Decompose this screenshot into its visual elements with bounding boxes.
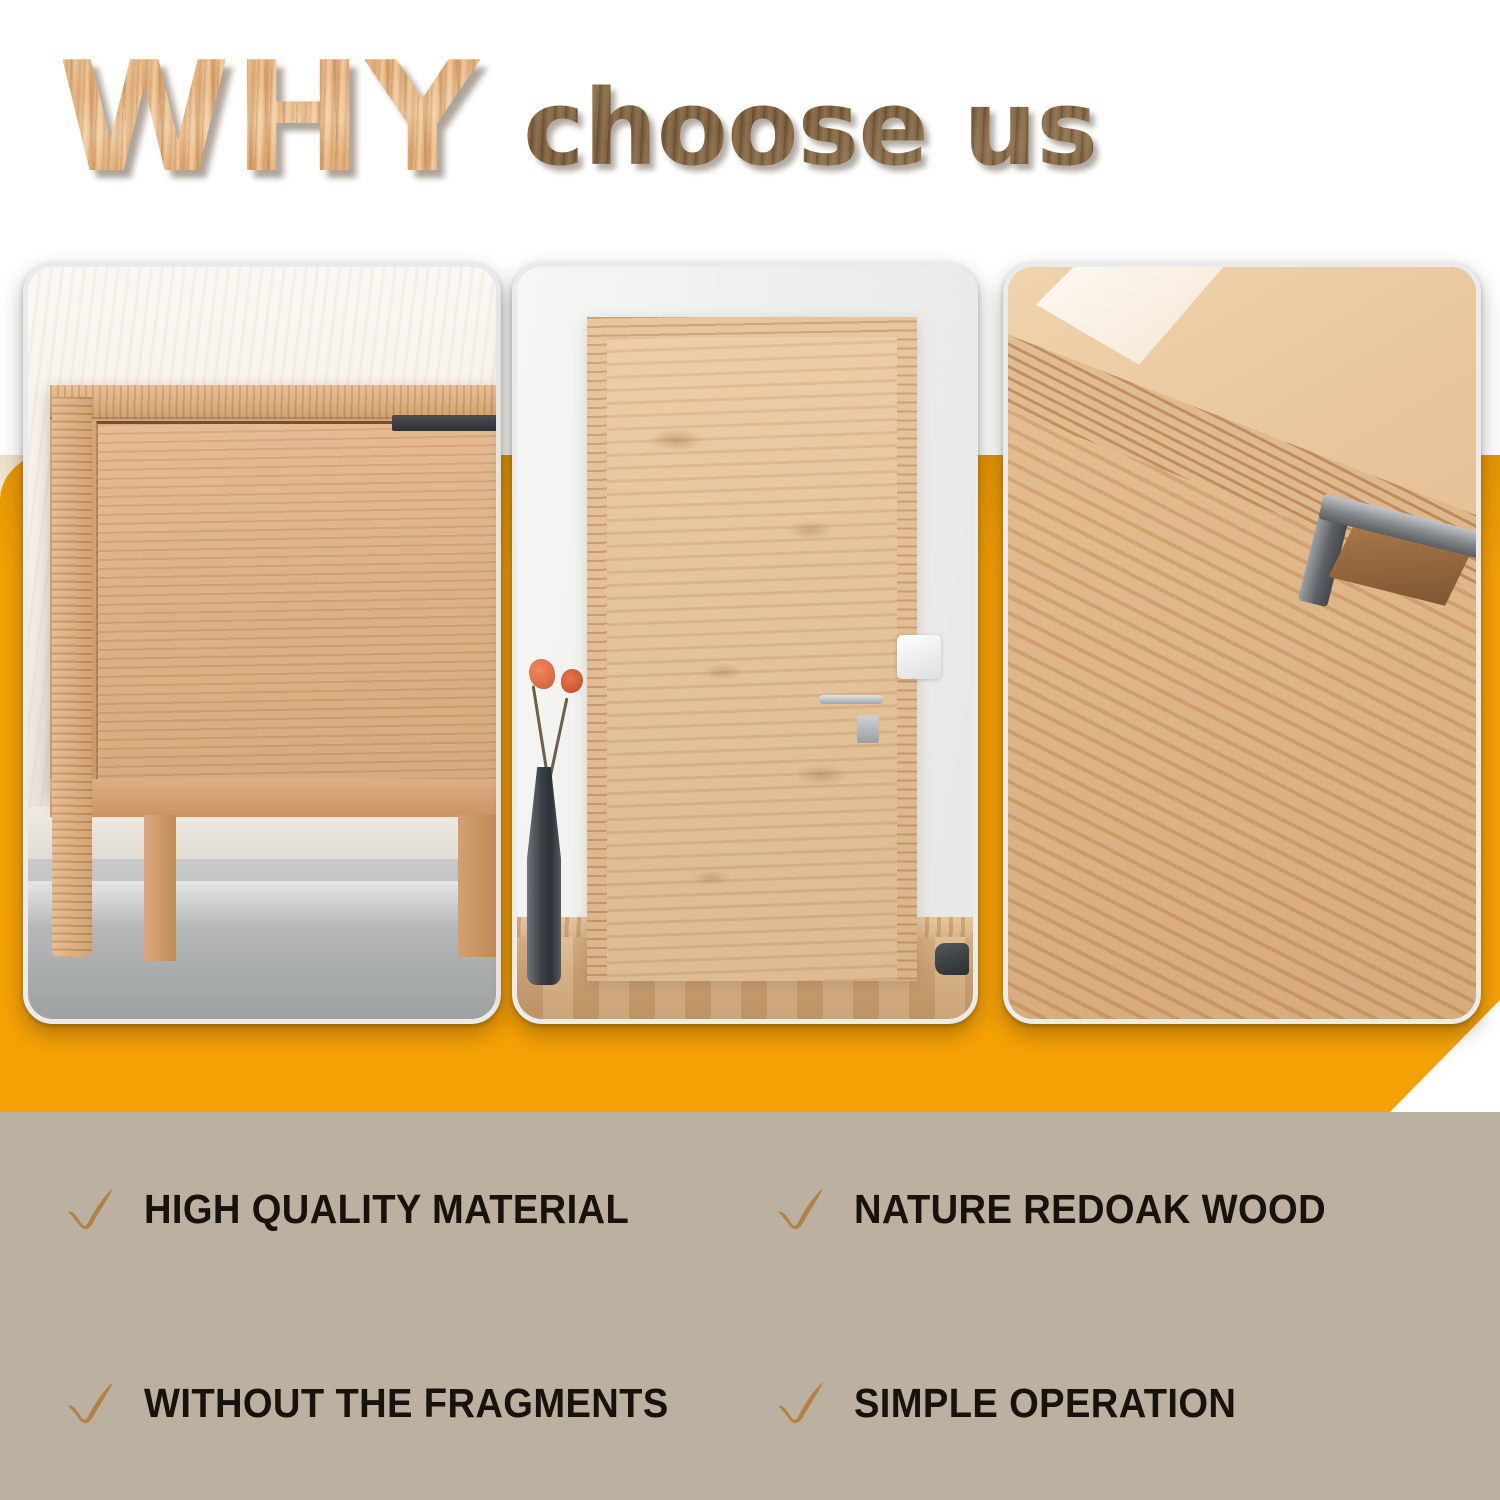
cabinet-apron: [50, 779, 496, 817]
photo-card-door[interactable]: [512, 262, 978, 1024]
check-icon: [64, 1182, 118, 1236]
feature-label: NATURE REDOAK WOOD: [854, 1186, 1326, 1233]
cabinet-leg-middle: [144, 815, 176, 961]
light-switch: [897, 635, 941, 679]
feature-item-simple-operation: SIMPLE OPERATION: [750, 1376, 1500, 1430]
cabinet-door-panel: [96, 421, 496, 779]
feature-item-nature-redoak-wood: NATURE REDOAK WOOD: [750, 1182, 1500, 1236]
door-frame: [587, 317, 917, 981]
handle-inner-shadow: [1329, 527, 1470, 606]
cabinet-leg-right: [458, 815, 496, 957]
wooden-cabinet-photo: [28, 267, 496, 1019]
photo-card-wood-edge[interactable]: [1003, 262, 1481, 1024]
features-panel: HIGH QUALITY MATERIAL NATURE REDOAK WOOD…: [0, 1112, 1500, 1500]
floor-object: [935, 943, 969, 975]
why-choose-us-infographic: WHY choose us: [0, 0, 1500, 1500]
oak-door-photo: [517, 267, 973, 1019]
feature-label: HIGH QUALITY MATERIAL: [144, 1186, 629, 1233]
photo-card-cabinet[interactable]: [23, 262, 501, 1024]
wood-edge-closeup-photo: [1008, 267, 1476, 1019]
feature-item-without-the-fragments: WITHOUT THE FRAGMENTS: [0, 1376, 750, 1430]
door-lever-handle: [819, 695, 883, 704]
cabinet-leg-left: [52, 397, 92, 957]
feature-item-high-quality-material: HIGH QUALITY MATERIAL: [0, 1182, 750, 1236]
door-lock-plate: [857, 715, 879, 743]
cabinet-body: [50, 385, 496, 795]
check-icon: [774, 1376, 828, 1430]
concrete-floor: [28, 859, 496, 1019]
check-icon: [64, 1376, 118, 1430]
oak-door-leaf: [607, 337, 897, 981]
check-icon: [774, 1182, 828, 1236]
photo-gallery: [0, 0, 1500, 1130]
feature-label: SIMPLE OPERATION: [854, 1380, 1236, 1427]
cabinet-bar-handle: [392, 415, 496, 431]
feature-label: WITHOUT THE FRAGMENTS: [144, 1380, 669, 1427]
cabinet-top-panel: [50, 385, 496, 419]
features-grid: HIGH QUALITY MATERIAL NATURE REDOAK WOOD…: [0, 1112, 1500, 1500]
